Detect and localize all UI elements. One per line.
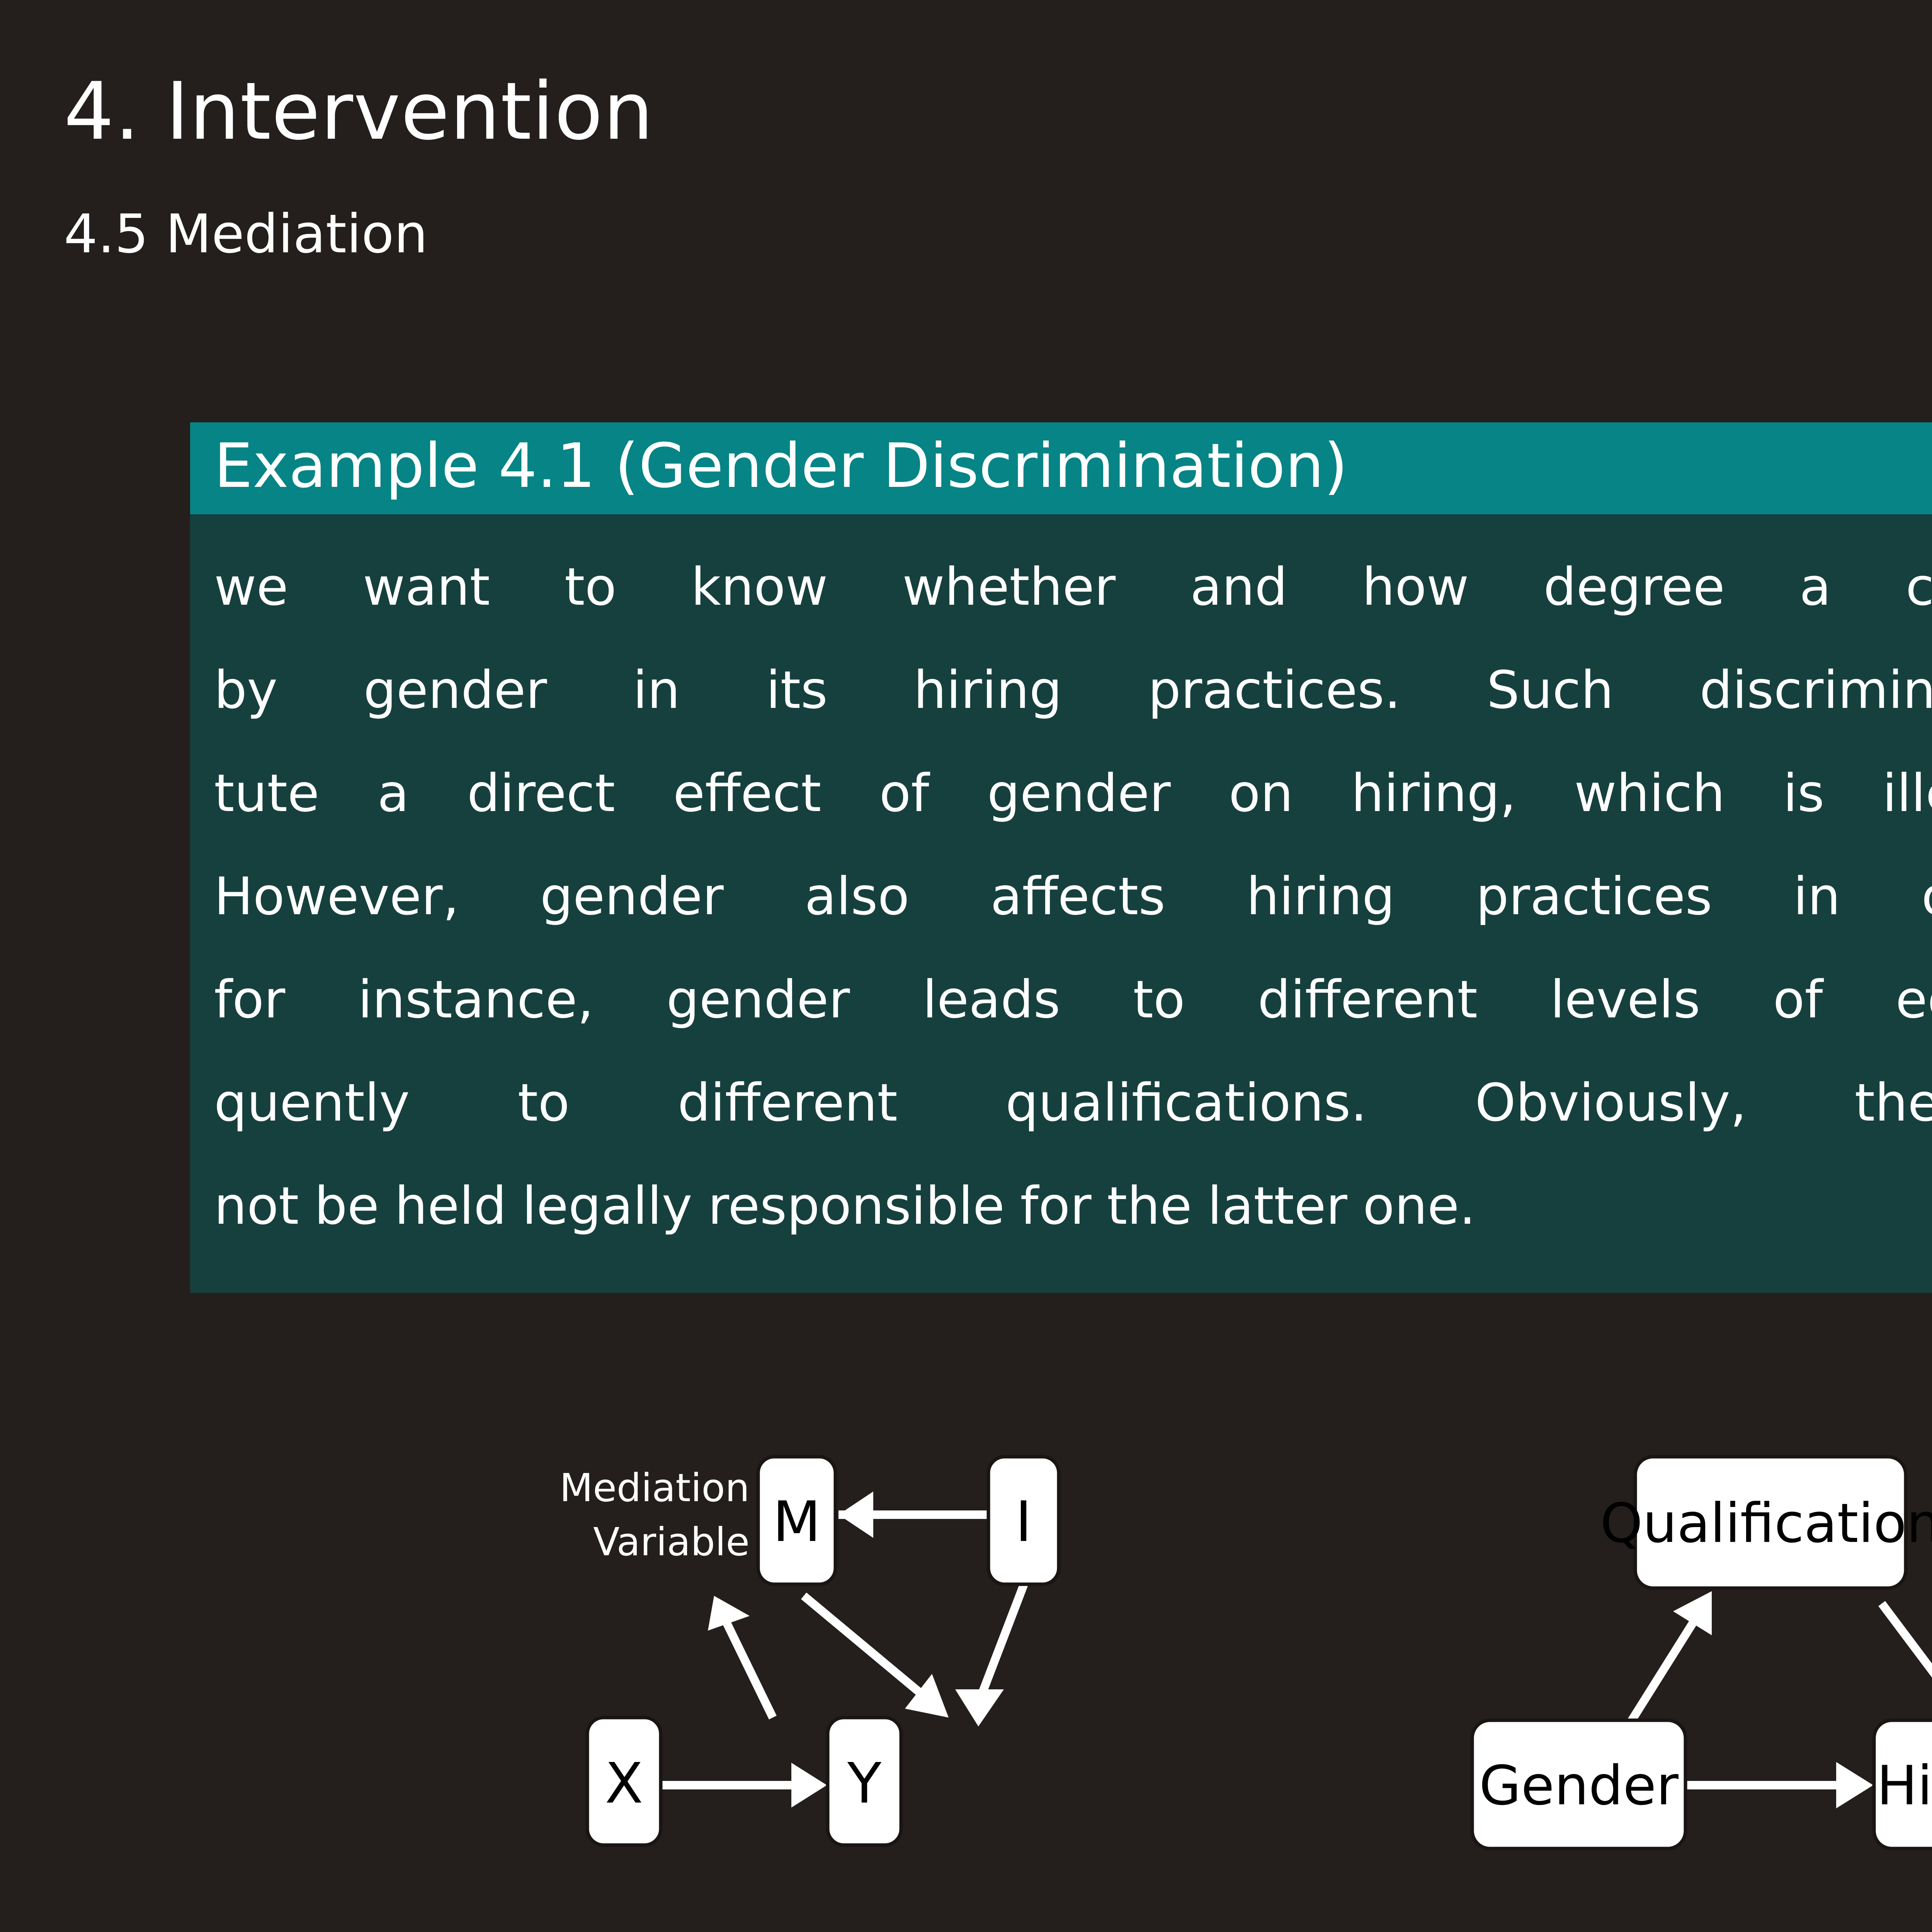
node-Gender[interactable]: Gender xyxy=(1472,1720,1685,1849)
edge-M-to-Y xyxy=(804,1596,949,1718)
mediation-dag-gender: Qualification Gender Hiring xyxy=(1445,1430,1932,1870)
page-subtitle: 4.5 Mediation xyxy=(64,203,428,265)
node-Qualification-label: Qualification xyxy=(1600,1492,1932,1555)
slide-header: 4. Intervention 4.5 Mediation xyxy=(0,0,1932,317)
example-block-title: Example 4.1 (Gender Discrimination) xyxy=(214,435,1932,497)
node-M-label: M xyxy=(773,1489,821,1554)
example-body-line: tuteadirecteffectofgenderonhiring,whichi… xyxy=(214,742,1932,845)
node-Qualification[interactable]: Qualification xyxy=(1600,1457,1932,1588)
example-body-line: bygenderinitshiringpractices.Suchdiscrim… xyxy=(214,638,1932,742)
page-title: 4. Intervention xyxy=(64,66,654,158)
node-Y[interactable]: Y xyxy=(828,1718,901,1845)
node-Y-label: Y xyxy=(847,1751,882,1816)
example-body-line: wewanttoknowwhetherandhowdegreeacompanyd… xyxy=(214,535,1932,638)
node-X-label: X xyxy=(605,1751,643,1816)
edge-I-to-M xyxy=(838,1492,987,1538)
node-Gender-label: Gender xyxy=(1479,1755,1679,1818)
edge-Qualification-to-Hiring xyxy=(1882,1604,1932,1735)
node-Hiring[interactable]: Hiring xyxy=(1874,1720,1932,1849)
example-body-line: However,genderalsoaffectshiringpractices… xyxy=(214,845,1932,948)
edge-X-to-M xyxy=(708,1596,773,1718)
example-body-line: forinstance,genderleadstodifferentlevels… xyxy=(214,948,1932,1051)
edge-Gender-to-Qualification xyxy=(1630,1591,1712,1723)
mediation-annotation-line1: Mediation xyxy=(560,1465,750,1510)
edge-X-to-Y xyxy=(661,1763,827,1808)
node-I-label: I xyxy=(1015,1489,1032,1554)
slide-canvas: 4. Intervention 4.5 Mediation Example 4.… xyxy=(0,0,1932,1932)
mediation-dag-abstract: Mediation Variable xyxy=(533,1430,1329,1870)
node-X[interactable]: X xyxy=(587,1718,661,1845)
example-block-body: wewanttoknowwhetherandhowdegreeacompanyd… xyxy=(190,514,1932,1293)
mediation-annotation-line2: Variable xyxy=(593,1519,750,1565)
edge-I-to-Y xyxy=(955,1584,1024,1726)
example-body-line: notbeheldlegallyresponsibleforthelattero… xyxy=(214,1154,1932,1257)
example-block-header: Example 4.1 (Gender Discrimination) xyxy=(190,422,1932,514)
edge-Gender-to-Hiring xyxy=(1685,1762,1873,1808)
node-I[interactable]: I xyxy=(988,1457,1059,1584)
node-M[interactable]: M xyxy=(758,1457,835,1584)
example-body-line: quentlytodifferentqualifications.Obvious… xyxy=(214,1051,1932,1154)
example-block: Example 4.1 (Gender Discrimination) wewa… xyxy=(190,422,1932,1293)
node-Hiring-label: Hiring xyxy=(1877,1755,1932,1818)
